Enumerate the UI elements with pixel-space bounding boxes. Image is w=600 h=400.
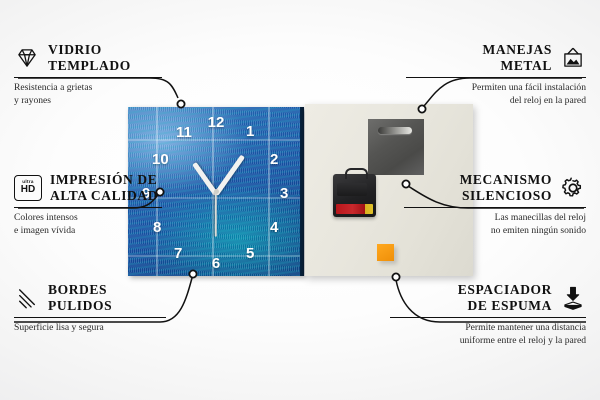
feature-mecanismo-silencioso[interactable]: MECANISMO SILENCIOSO Las manecillas del … bbox=[404, 172, 586, 238]
feature-title-line2: SILENCIOSO bbox=[460, 188, 552, 204]
connector-dot-espaciador bbox=[392, 273, 399, 280]
feature-title-line2: ALTA CALIDAD bbox=[50, 188, 158, 204]
feature-subtitle-line1: Colores intensos bbox=[14, 212, 162, 225]
feature-subtitle-line1: Permite mantener una distancia bbox=[390, 322, 586, 335]
feature-rule bbox=[390, 317, 586, 319]
feature-rule bbox=[14, 207, 162, 209]
feature-title-line1: BORDES bbox=[48, 282, 112, 298]
feature-subtitle-line1: Las manecillas del reloj bbox=[404, 212, 586, 225]
connector-dot-bordes bbox=[189, 270, 196, 277]
feature-subtitle-line2: y rayones bbox=[14, 95, 162, 108]
gear-icon bbox=[560, 175, 586, 201]
feature-rule bbox=[14, 77, 162, 79]
picture-frame-icon bbox=[560, 45, 586, 71]
feature-bordes-pulidos[interactable]: BORDES PULIDOS Superficie lisa y segura bbox=[14, 282, 166, 335]
feature-subtitle-line1: Permiten una fácil instalación bbox=[406, 82, 586, 95]
feature-title-line1: MANEJAS bbox=[483, 42, 552, 58]
feature-impresion-alta-calidad[interactable]: ultra HD IMPRESIÓN DE ALTA CALIDAD Color… bbox=[14, 172, 162, 238]
connector-dot-vidrio bbox=[177, 100, 184, 107]
diamond-icon bbox=[14, 45, 40, 71]
feature-vidrio-templado[interactable]: VIDRIO TEMPLADO Resistencia a grietas y … bbox=[14, 42, 162, 108]
feature-subtitle-line2: del reloj en la pared bbox=[406, 95, 586, 108]
feature-title-line2: METAL bbox=[483, 58, 552, 74]
ultra-hd-badge-icon: ultra HD bbox=[14, 175, 42, 201]
feature-manejas-metal[interactable]: MANEJAS METAL Permiten una fácil instala… bbox=[406, 42, 586, 108]
feature-title-line1: ESPACIADOR bbox=[458, 282, 552, 298]
feature-rule bbox=[14, 317, 166, 319]
feature-title-line1: VIDRIO bbox=[48, 42, 131, 58]
feature-title-line1: MECANISMO bbox=[460, 172, 552, 188]
ultra-hd-large-text: HD bbox=[21, 185, 35, 195]
feature-subtitle-line2: e imagen vívida bbox=[14, 225, 162, 238]
feature-rule bbox=[406, 77, 586, 79]
arrow-down-pad-icon bbox=[560, 285, 586, 311]
feature-subtitle-line2: no emiten ningún sonido bbox=[404, 225, 586, 238]
feature-rule bbox=[404, 207, 586, 209]
diagonal-lines-icon bbox=[14, 285, 40, 311]
feature-subtitle-line1: Resistencia a grietas bbox=[14, 82, 162, 95]
feature-subtitle-line2: uniforme entre el reloj y la pared bbox=[390, 335, 586, 348]
feature-subtitle-line1: Superficie lisa y segura bbox=[14, 322, 166, 335]
feature-title-line2: TEMPLADO bbox=[48, 58, 131, 74]
infographic-canvas: 12 1 2 3 4 5 6 7 8 9 10 11 bbox=[0, 0, 600, 400]
feature-title-line1: IMPRESIÓN DE bbox=[50, 172, 158, 188]
feature-espaciador-espuma[interactable]: ESPACIADOR DE ESPUMA Permite mantener un… bbox=[390, 282, 586, 348]
feature-title-line2: PULIDOS bbox=[48, 298, 112, 314]
feature-title-line2: DE ESPUMA bbox=[458, 298, 552, 314]
